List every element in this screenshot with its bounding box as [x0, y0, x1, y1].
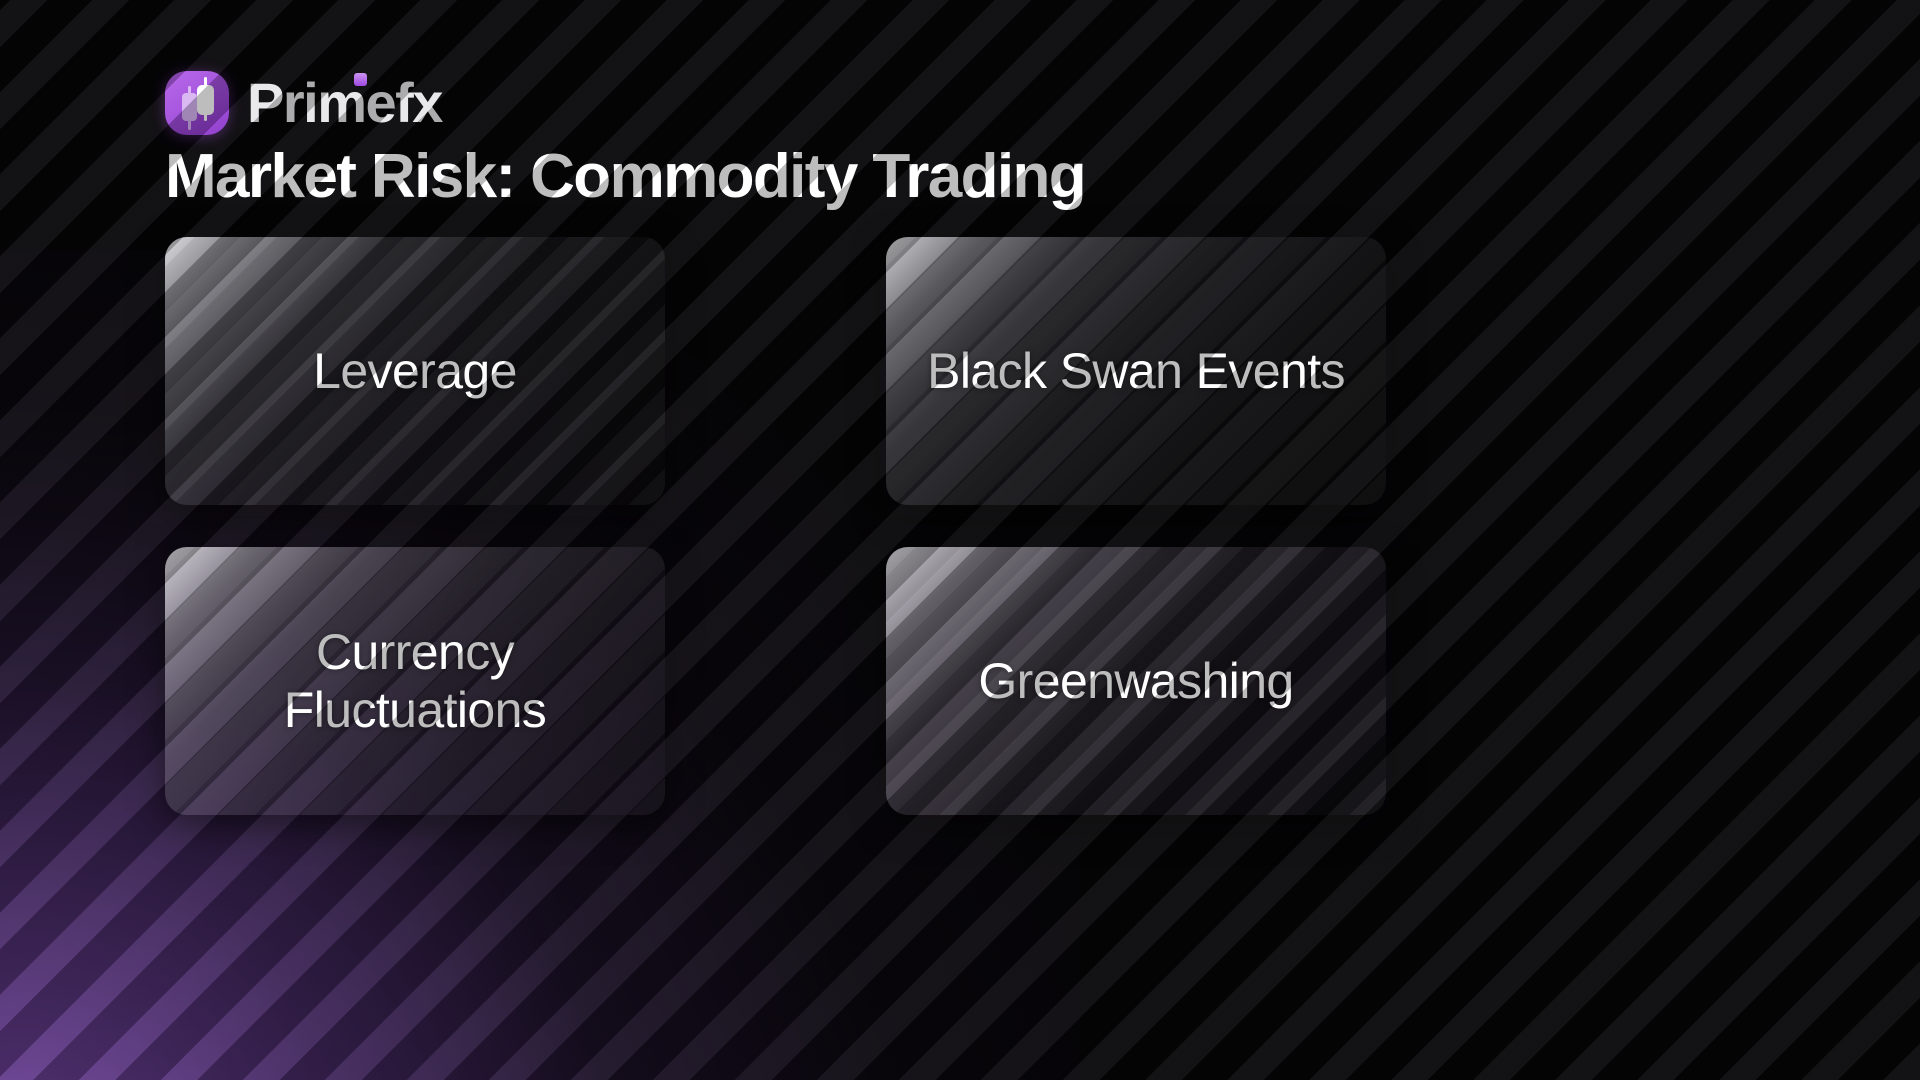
risk-card-leverage[interactable]: Leverage: [165, 237, 665, 505]
slide-canvas: Primefx Market Risk: Commodity Trading L…: [0, 0, 1920, 1080]
risk-card-greenwashing[interactable]: Greenwashing: [886, 547, 1386, 815]
page-title: Market Risk: Commodity Trading: [165, 144, 1085, 211]
risk-card-label: Greenwashing: [978, 652, 1293, 710]
brand-name-text: Primefx: [247, 71, 442, 134]
candlestick-white-icon: [197, 85, 214, 115]
brand-name: Primefx: [247, 75, 442, 131]
candlestick-tittle-icon: [354, 73, 367, 86]
risk-card-black-swan-events[interactable]: Black Swan Events: [886, 237, 1386, 505]
brand-lockup: Primefx: [165, 70, 1085, 136]
risk-card-currency-fluctuations[interactable]: Currency Fluctuations: [165, 547, 665, 815]
risk-card-label: Currency Fluctuations: [199, 623, 631, 739]
risk-card-label: Black Swan Events: [927, 342, 1345, 400]
header: Primefx Market Risk: Commodity Trading: [165, 70, 1085, 211]
risk-card-label: Leverage: [313, 342, 517, 400]
candlestick-lilac-icon: [182, 93, 197, 121]
candlestick-logo-icon: [165, 71, 229, 135]
risk-card-grid: Leverage Black Swan Events Currency Fluc…: [165, 237, 1386, 815]
